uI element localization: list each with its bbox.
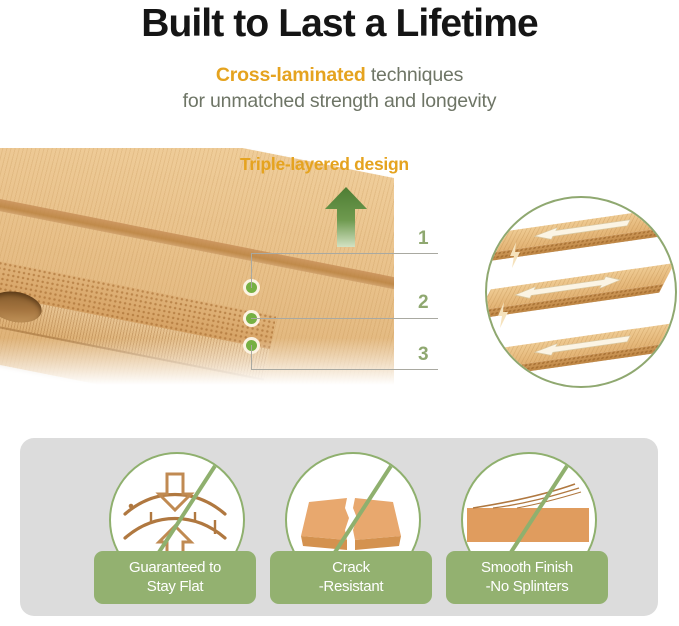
feature-label-line2: -No Splinters: [446, 577, 608, 596]
feature-label: Guaranteed to Stay Flat: [94, 551, 256, 604]
up-arrow-icon: [324, 186, 368, 248]
cross-laminated-layers-diagram: [485, 196, 677, 388]
leader-line-1-vertical: [251, 253, 252, 288]
layer-number-1: 1: [418, 228, 429, 250]
lightning-bolt-icon: [497, 302, 509, 328]
wood-layer-bottom: [490, 321, 677, 377]
page-title: Built to Last a Lifetime: [0, 2, 679, 46]
feature-label: Smooth Finish -No Splinters: [446, 551, 608, 604]
feature-crack-resistant: Crack -Resistant: [258, 452, 444, 604]
feature-smooth-finish: Smooth Finish -No Splinters: [434, 452, 620, 604]
leader-line-3-horizontal: [251, 369, 438, 370]
feature-label-line1: Crack: [332, 559, 370, 576]
subtitle: Cross-laminated techniques for unmatched…: [0, 62, 679, 114]
leader-line-1-horizontal: [251, 253, 438, 254]
feature-label-line2: Stay Flat: [94, 577, 256, 596]
feature-label: Crack -Resistant: [270, 551, 432, 604]
board-fade-overlay: [0, 338, 394, 398]
leader-line-2-horizontal: [251, 318, 438, 319]
layer-number-3: 3: [418, 344, 429, 366]
feature-label-line1: Smooth Finish: [481, 559, 573, 576]
leader-line-3-vertical: [251, 345, 252, 369]
lightning-bolt-icon: [509, 242, 521, 268]
wood-layer-middle: [485, 263, 674, 319]
layer-number-2: 2: [418, 292, 429, 314]
feature-label-line1: Guaranteed to: [129, 559, 221, 576]
product-infographic: Built to Last a Lifetime Cross-laminated…: [0, 0, 679, 626]
feature-label-line2: -Resistant: [270, 577, 432, 596]
subtitle-rest: techniques: [366, 64, 464, 86]
subtitle-highlight: Cross-laminated: [216, 64, 366, 86]
feature-panel: Guaranteed to Stay Flat Crack -Resistant: [20, 438, 658, 616]
subtitle-line2: for unmatched strength and longevity: [183, 90, 497, 112]
feature-guaranteed-flat: Guaranteed to Stay Flat: [82, 452, 268, 604]
triple-layered-label: Triple-layered design: [240, 154, 409, 175]
